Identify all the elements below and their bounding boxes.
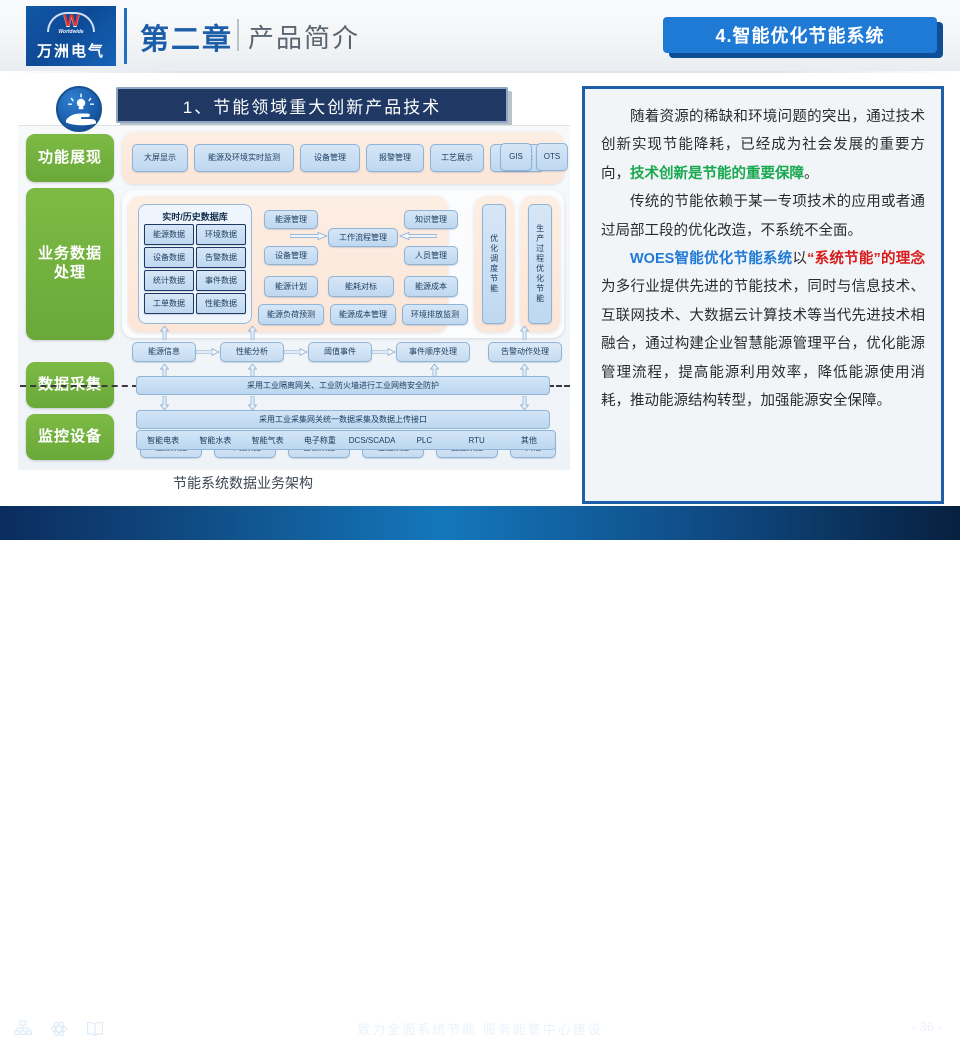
- device-band: 智能电表 智能水表 智能气表 电子称重 DCS/SCADA PLC RTU 其他: [136, 430, 556, 450]
- p1-part-b: 。: [804, 166, 819, 182]
- mgmt-row4-2[interactable]: 环境排放监测: [402, 304, 468, 325]
- device-item-0: 智能电表: [137, 435, 189, 446]
- device-item-4: DCS/SCADA: [346, 436, 398, 445]
- footer-slogan: 致力全面系统节能 服务能管中心建设: [0, 1019, 960, 1038]
- connector-up-2-icon: [520, 326, 529, 340]
- device-item-5: PLC: [398, 436, 450, 445]
- mgmt-row3-2[interactable]: 能源成本: [404, 276, 458, 297]
- connector-down-1-icon: [248, 396, 257, 410]
- device-item-2: 智能气表: [242, 435, 294, 446]
- db-cell-1[interactable]: 环境数据: [196, 224, 246, 245]
- p3-part-b: 为多行业提供先进的节能技术，同时与信息技术、互联网技术、大数据云计算技术等当代先…: [601, 279, 925, 409]
- slide-footer: 致力全面系统节能 服务能管中心建设 - 36 -: [0, 506, 960, 540]
- db-cell-6[interactable]: 工单数据: [144, 293, 194, 314]
- section-title-bar: 1、节能领域重大创新产品技术: [116, 87, 508, 123]
- chapter-title: 第二章: [140, 16, 233, 58]
- device-item-3: 电子称重: [294, 435, 346, 446]
- title-separator: [237, 19, 239, 51]
- mgmt-workflow[interactable]: 工作流程管理: [328, 228, 398, 247]
- mgmt-row3-0[interactable]: 能源计划: [264, 276, 318, 297]
- mgmt-row4-1[interactable]: 能源成本管理: [330, 304, 396, 325]
- architecture-diagram: 功能展现 业务数据 处理 数据采集 监控设备 大屏显示 能源及环境实时监测 设备…: [18, 125, 570, 470]
- layer-label-business-line2: 处理: [54, 264, 86, 283]
- mgmt-row3-1[interactable]: 能耗对标: [328, 276, 394, 297]
- connector-up-1-icon: [248, 326, 257, 340]
- description-text: 随着资源的稀缺和环境问题的突出，通过技术创新实现节能降耗，已经成为社会发展的重要…: [585, 89, 941, 415]
- p3-part-a: 以: [792, 251, 807, 267]
- flow-box-alarm[interactable]: 告警动作处理: [488, 342, 562, 362]
- left-content-panel: 1、节能领域重大创新产品技术 功能展现 业务数据 处理 数据采集 监控设备: [18, 85, 570, 500]
- side-column-1[interactable]: 生产过程优化节能: [528, 204, 552, 324]
- p3-brand: WOES智能优化节能系统: [630, 251, 792, 267]
- arrow-right-to-workflow-icon: [290, 232, 328, 240]
- function-box-7[interactable]: OTS: [536, 143, 568, 171]
- mgmt-device[interactable]: 设备管理: [264, 246, 318, 265]
- device-item-1: 智能水表: [189, 435, 241, 446]
- dashed-divider-left: [20, 385, 138, 387]
- db-cell-2[interactable]: 设备数据: [144, 247, 194, 268]
- topic-ribbon-body: 4.智能优化节能系统: [663, 17, 937, 53]
- topic-ribbon: 4.智能优化节能系统: [663, 17, 943, 57]
- p3-concept: “系统节能”的理念: [807, 251, 925, 267]
- layer-label-function: 功能展现: [26, 134, 114, 182]
- logo-letter: W: [44, 12, 98, 30]
- flow-box-0[interactable]: 能源信息: [132, 342, 196, 362]
- description-panel: 随着资源的稀缺和环境问题的突出，通过技术创新实现节能降耗，已经成为社会发展的重要…: [582, 86, 944, 504]
- connector-down-2-icon: [520, 396, 529, 410]
- mgmt-energy[interactable]: 能源管理: [264, 210, 318, 229]
- security-band: 采用工业隔离网关、工业防火墙进行工业网络安全防护: [136, 376, 550, 395]
- paragraph-2: 传统的节能依赖于某一专项技术的应用或者通过局部工段的优化改造，不系统不全面。: [601, 188, 925, 245]
- flow-arrow-2-icon: [372, 348, 396, 356]
- dashed-divider-right: [548, 385, 570, 387]
- diagram-caption: 节能系统数据业务架构: [173, 473, 473, 493]
- db-cell-3[interactable]: 告警数据: [196, 247, 246, 268]
- chapter-subtitle: 产品简介: [248, 18, 360, 55]
- flow-arrow-1-icon: [284, 348, 308, 356]
- logo-company-name: 万洲电气: [37, 40, 105, 61]
- slide-header: W Worldwide 万洲电气 第二章 产品简介 4.智能优化节能系统: [0, 0, 960, 72]
- side-column-0[interactable]: 优化调度节能: [482, 204, 506, 324]
- paragraph-3: WOES智能优化节能系统以“系统节能”的理念为多行业提供先进的节能技术，同时与信…: [601, 245, 925, 415]
- function-box-3[interactable]: 报警管理: [366, 144, 424, 172]
- arrow-left-to-workflow-icon: [399, 232, 437, 240]
- paragraph-1: 随着资源的稀缺和环境问题的突出，通过技术创新实现节能降耗，已经成为社会发展的重要…: [601, 103, 925, 188]
- db-cell-5[interactable]: 事件数据: [196, 270, 246, 291]
- footer-page-number: - 36 -: [912, 1019, 942, 1034]
- connector-down-0-icon: [160, 396, 169, 410]
- db-cell-7[interactable]: 性能数据: [196, 293, 246, 314]
- device-item-6: RTU: [451, 436, 503, 445]
- collect-band: 采用工业采集网关统一数据采集及数据上传接口: [136, 410, 550, 429]
- company-logo: W Worldwide 万洲电气: [26, 6, 116, 66]
- connector-up-0-icon: [160, 326, 169, 340]
- hand-bulb-icon: [56, 86, 102, 132]
- layer-label-business-line1: 业务数据: [38, 245, 102, 264]
- flow-arrow-0-icon: [196, 348, 220, 356]
- topic-ribbon-label: 4.智能优化节能系统: [715, 22, 884, 48]
- logo-mark-icon: W Worldwide: [44, 11, 98, 37]
- layer-label-device: 监控设备: [26, 414, 114, 460]
- flow-box-1[interactable]: 性能分析: [220, 342, 284, 362]
- function-box-6[interactable]: GIS: [500, 143, 532, 171]
- mgmt-knowledge[interactable]: 知识管理: [404, 210, 458, 229]
- layer-label-business: 业务数据 处理: [26, 188, 114, 340]
- mgmt-person[interactable]: 人员管理: [404, 246, 458, 265]
- logo-worldwide-text: Worldwide: [44, 29, 98, 35]
- function-box-4[interactable]: 工艺展示: [430, 144, 484, 172]
- device-item-7: 其他: [503, 435, 555, 446]
- flow-box-3[interactable]: 事件顺序处理: [396, 342, 470, 362]
- p1-highlight: 技术创新是节能的重要保障: [630, 166, 804, 182]
- function-box-0[interactable]: 大屏显示: [132, 144, 188, 172]
- header-divider: [124, 8, 127, 64]
- mgmt-row4-0[interactable]: 能源负荷预测: [258, 304, 324, 325]
- function-box-1[interactable]: 能源及环境实时监测: [194, 144, 294, 172]
- section-title-label: 1、节能领域重大创新产品技术: [183, 93, 441, 118]
- function-box-2[interactable]: 设备管理: [300, 144, 360, 172]
- header-underline: [0, 71, 960, 73]
- db-cell-0[interactable]: 能源数据: [144, 224, 194, 245]
- hand-bulb-glyph: [58, 88, 104, 134]
- database-title: 实时/历史数据库: [138, 210, 252, 223]
- flow-box-2[interactable]: 阈值事件: [308, 342, 372, 362]
- db-cell-4[interactable]: 统计数据: [144, 270, 194, 291]
